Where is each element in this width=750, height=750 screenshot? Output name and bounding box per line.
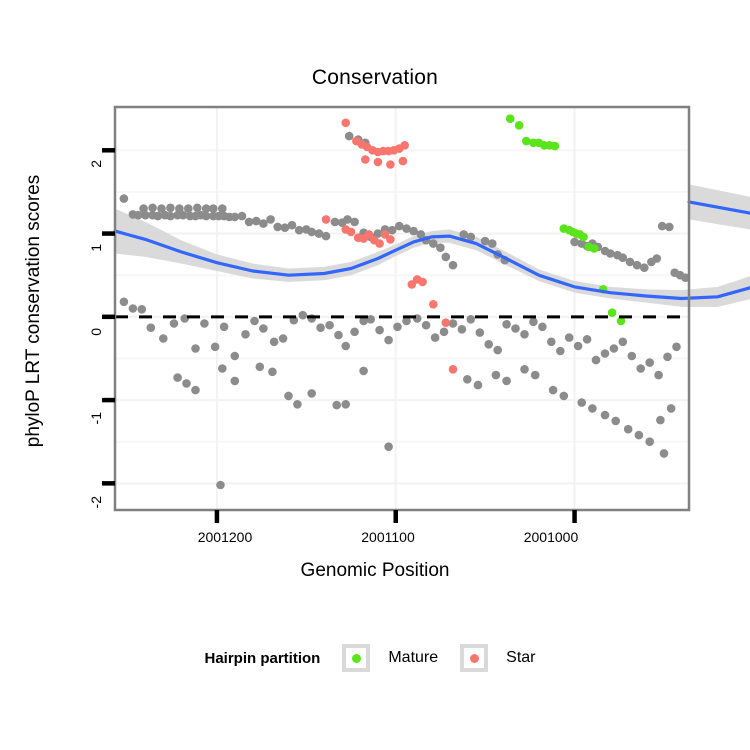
data-point bbox=[375, 239, 384, 248]
data-point bbox=[590, 244, 599, 253]
legend-dot-mature bbox=[352, 654, 361, 663]
data-point bbox=[484, 340, 493, 349]
data-point bbox=[170, 319, 179, 328]
data-point bbox=[549, 386, 558, 395]
data-point bbox=[579, 233, 588, 242]
data-point bbox=[332, 401, 341, 410]
data-point bbox=[431, 333, 440, 342]
data-point bbox=[636, 364, 645, 373]
data-point bbox=[279, 334, 288, 343]
data-point bbox=[191, 386, 200, 395]
legend-label-star: Star bbox=[506, 649, 535, 667]
data-point bbox=[588, 404, 597, 413]
data-point bbox=[322, 232, 331, 241]
data-point bbox=[157, 204, 166, 213]
data-point bbox=[259, 324, 268, 333]
data-point bbox=[288, 221, 297, 230]
data-point bbox=[474, 381, 483, 390]
data-point bbox=[654, 371, 663, 380]
data-point bbox=[299, 311, 308, 320]
legend: Hairpin partition Mature Star bbox=[0, 644, 750, 672]
data-point bbox=[375, 326, 384, 335]
data-point bbox=[408, 280, 417, 289]
data-point bbox=[628, 352, 637, 361]
data-point bbox=[467, 315, 476, 324]
data-point bbox=[148, 204, 157, 213]
data-point bbox=[341, 119, 350, 128]
data-point bbox=[120, 298, 129, 307]
data-point bbox=[266, 215, 275, 224]
legend-label-mature: Mature bbox=[388, 649, 438, 667]
data-point bbox=[184, 204, 193, 213]
data-point bbox=[209, 204, 218, 213]
data-point bbox=[173, 373, 182, 382]
data-point bbox=[502, 320, 511, 329]
data-point bbox=[619, 253, 628, 262]
data-point bbox=[574, 342, 583, 351]
data-point bbox=[418, 278, 427, 287]
data-point bbox=[458, 325, 467, 334]
data-point bbox=[211, 343, 220, 352]
data-point bbox=[672, 343, 681, 352]
data-point bbox=[231, 352, 240, 361]
data-point bbox=[250, 317, 259, 326]
data-point bbox=[577, 398, 586, 407]
data-point bbox=[520, 330, 529, 339]
data-point bbox=[531, 371, 540, 380]
data-point bbox=[583, 335, 592, 344]
data-point bbox=[255, 363, 264, 372]
data-point bbox=[322, 215, 331, 224]
data-point bbox=[565, 333, 574, 342]
data-point bbox=[635, 431, 644, 440]
data-point bbox=[640, 263, 649, 272]
data-point bbox=[619, 338, 628, 347]
data-point bbox=[624, 425, 633, 434]
data-point bbox=[341, 400, 350, 409]
data-point bbox=[307, 228, 316, 237]
data-point bbox=[316, 323, 325, 332]
data-point bbox=[560, 392, 569, 401]
data-point bbox=[440, 328, 449, 337]
data-point bbox=[182, 379, 191, 388]
data-point bbox=[191, 344, 200, 353]
plot-area bbox=[0, 0, 750, 750]
data-point bbox=[159, 334, 168, 343]
data-point bbox=[493, 346, 502, 355]
data-point bbox=[284, 392, 293, 401]
data-point bbox=[429, 300, 438, 309]
data-point bbox=[347, 228, 356, 237]
data-point bbox=[463, 375, 472, 384]
data-point bbox=[341, 342, 350, 351]
data-point bbox=[422, 321, 431, 330]
legend-key-star[interactable] bbox=[460, 644, 488, 672]
data-point bbox=[608, 308, 617, 317]
data-point bbox=[488, 239, 497, 248]
data-point bbox=[361, 155, 370, 164]
data-point bbox=[610, 344, 619, 353]
data-point bbox=[665, 223, 674, 232]
data-point bbox=[476, 328, 485, 337]
data-point bbox=[147, 323, 156, 332]
data-point bbox=[611, 417, 620, 426]
legend-dot-star bbox=[470, 654, 479, 663]
legend-title: Hairpin partition bbox=[205, 650, 321, 667]
data-point bbox=[601, 411, 610, 420]
data-point bbox=[399, 157, 408, 166]
data-point bbox=[307, 389, 316, 398]
data-point bbox=[218, 364, 227, 373]
data-point bbox=[138, 305, 147, 314]
legend-key-mature[interactable] bbox=[342, 644, 370, 672]
data-point bbox=[386, 235, 395, 244]
data-point bbox=[592, 356, 601, 365]
data-point bbox=[656, 416, 665, 425]
data-point bbox=[374, 158, 383, 167]
data-point bbox=[529, 318, 538, 327]
data-point bbox=[538, 323, 547, 332]
data-point bbox=[238, 212, 247, 221]
data-point bbox=[175, 204, 184, 213]
data-point bbox=[645, 358, 654, 367]
data-point bbox=[436, 243, 445, 252]
data-point bbox=[506, 114, 515, 123]
panel-background bbox=[115, 107, 689, 510]
data-point bbox=[520, 365, 529, 374]
data-point bbox=[551, 142, 560, 151]
data-point bbox=[384, 442, 393, 451]
data-point bbox=[667, 404, 676, 413]
data-point bbox=[270, 338, 279, 347]
data-point bbox=[653, 254, 662, 263]
data-point bbox=[334, 331, 343, 340]
data-point bbox=[216, 481, 225, 490]
data-point bbox=[515, 121, 524, 130]
data-point bbox=[384, 336, 393, 345]
data-point bbox=[200, 319, 209, 328]
data-point bbox=[120, 194, 129, 203]
data-point bbox=[241, 330, 250, 339]
data-point bbox=[556, 347, 565, 356]
data-point bbox=[386, 160, 395, 169]
data-point bbox=[449, 365, 458, 374]
data-point bbox=[345, 132, 354, 141]
data-point bbox=[193, 204, 202, 213]
data-point bbox=[139, 204, 148, 213]
data-point bbox=[663, 353, 672, 362]
data-point bbox=[325, 321, 334, 330]
data-point bbox=[601, 349, 610, 358]
data-point bbox=[547, 338, 556, 347]
data-point bbox=[502, 377, 511, 386]
data-point bbox=[259, 219, 268, 228]
data-point bbox=[218, 204, 227, 213]
data-point bbox=[129, 304, 138, 313]
data-point bbox=[400, 141, 409, 150]
data-point bbox=[606, 249, 615, 258]
data-point bbox=[645, 437, 654, 446]
data-point bbox=[166, 204, 175, 213]
data-point bbox=[492, 371, 501, 380]
data-point bbox=[511, 324, 520, 333]
data-point bbox=[293, 400, 302, 409]
data-point bbox=[660, 449, 669, 458]
conservation-chart-figure: Conservation phyloP LRT conservation sco… bbox=[0, 0, 750, 750]
data-point bbox=[350, 328, 359, 337]
data-point bbox=[449, 261, 458, 270]
data-point bbox=[393, 323, 402, 332]
data-point bbox=[231, 377, 240, 386]
data-point bbox=[220, 323, 229, 332]
data-point bbox=[442, 253, 451, 262]
data-point bbox=[442, 318, 451, 327]
data-point bbox=[359, 367, 368, 376]
data-point bbox=[350, 218, 359, 227]
data-point bbox=[268, 368, 277, 377]
